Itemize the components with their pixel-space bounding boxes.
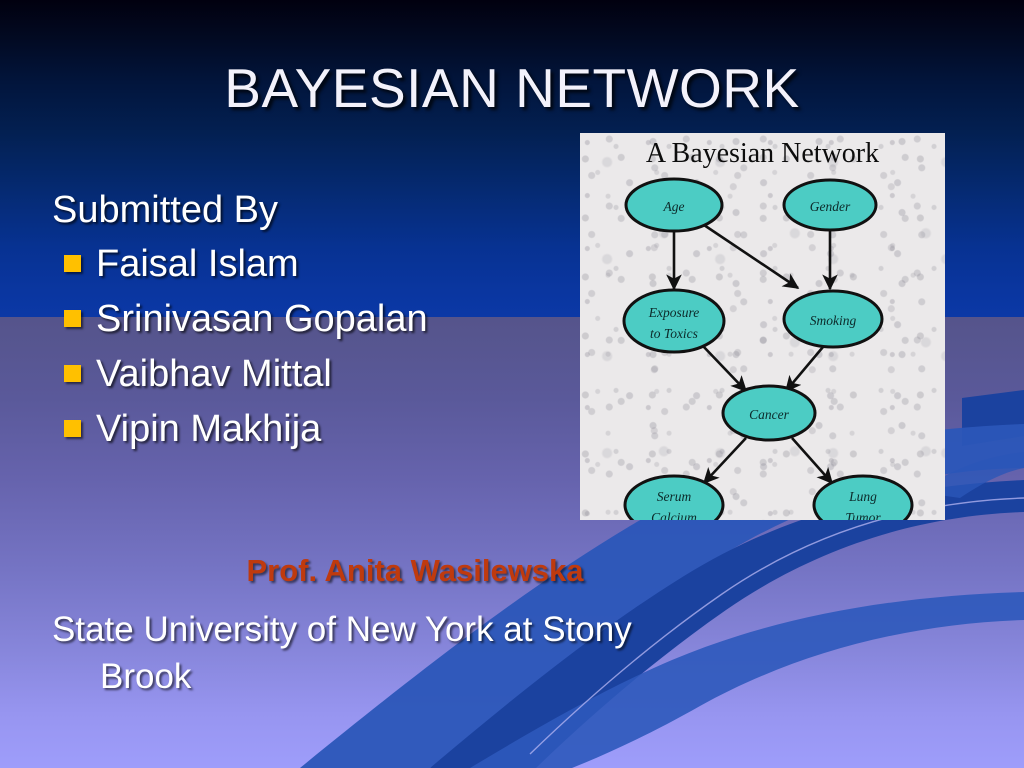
node-label-cancer: Cancer (749, 407, 789, 422)
graph-edges (674, 225, 832, 483)
presentation-slide: BAYESIAN NETWORK Submitted By Faisal Isl… (0, 0, 1024, 768)
node-exposure-to-toxics: Exposure to Toxics (624, 290, 724, 352)
square-bullet-icon (64, 420, 81, 437)
node-label-serum-line1: Serum (657, 489, 692, 504)
university-line-2: Brook (52, 653, 862, 700)
node-label-tumor-line2: Tumor (845, 510, 881, 520)
university-name: State University of New York at Stony Br… (52, 606, 862, 700)
edge-age-smoking (704, 225, 798, 288)
node-lung-tumor: Lung Tumor (814, 476, 912, 520)
square-bullet-icon (64, 310, 81, 327)
submitted-by-label: Submitted By (52, 186, 572, 234)
node-smoking: Smoking (784, 291, 882, 347)
node-label-exposure-line1: Exposure (648, 305, 700, 320)
graph-nodes: Age Gender Exposure to Toxics Smoking (624, 179, 912, 520)
list-item: Vipin Makhija (52, 401, 572, 456)
submitted-by-block: Submitted By Faisal Islam Srinivasan Gop… (52, 186, 572, 456)
author-list: Faisal Islam Srinivasan Gopalan Vaibhav … (52, 236, 572, 456)
university-line-1: State University of New York at Stony (52, 610, 632, 649)
node-label-smoking: Smoking (810, 313, 857, 328)
node-label-exposure-line2: to Toxics (650, 326, 698, 341)
edge-smoking-cancer (786, 341, 828, 391)
square-bullet-icon (64, 255, 81, 272)
page-title: BAYESIAN NETWORK (0, 58, 1024, 118)
node-cancer: Cancer (723, 386, 815, 440)
author-name: Faisal Islam (96, 242, 299, 286)
node-label-tumor-line1: Lung (848, 489, 877, 504)
node-gender: Gender (784, 180, 876, 230)
node-label-gender: Gender (810, 199, 851, 214)
edge-cancer-serum (704, 438, 746, 483)
node-label-serum-line2: Calcium (651, 510, 697, 520)
edge-cancer-tumor (792, 438, 832, 483)
network-graph: Age Gender Exposure to Toxics Smoking (580, 133, 945, 520)
list-item: Vaibhav Mittal (52, 346, 572, 401)
author-name: Vaibhav Mittal (96, 352, 332, 396)
author-name: Srinivasan Gopalan (96, 297, 428, 341)
node-age: Age (626, 179, 722, 231)
list-item: Faisal Islam (52, 236, 572, 291)
author-name: Vipin Makhija (96, 407, 321, 451)
professor-name: Prof. Anita Wasilewska (0, 552, 830, 590)
node-label-age: Age (663, 199, 685, 214)
node-serum-calcium: Serum Calcium (625, 476, 723, 520)
list-item: Srinivasan Gopalan (52, 291, 572, 346)
edge-exposure-cancer (702, 345, 746, 391)
bayesian-network-figure: A Bayesian Network A (580, 133, 945, 520)
square-bullet-icon (64, 365, 81, 382)
